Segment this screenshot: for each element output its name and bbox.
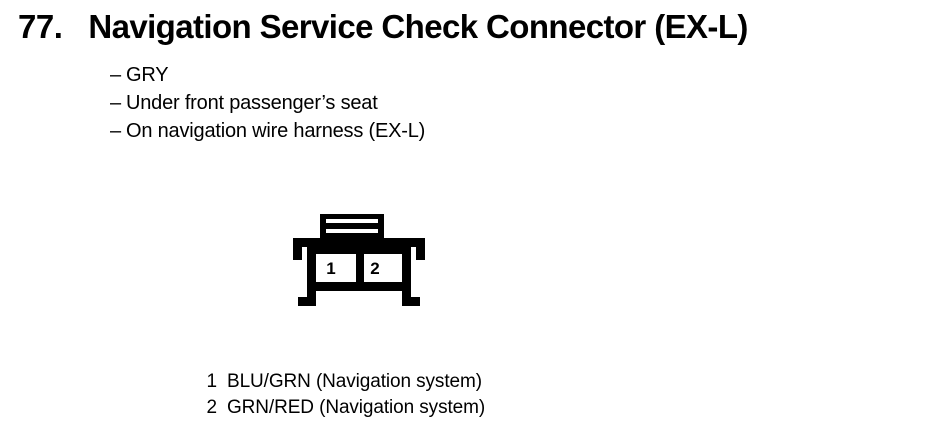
latch-slot-upper bbox=[326, 219, 378, 223]
connector-shoulder-end-right bbox=[416, 238, 425, 260]
pin-legend-description: BLU/GRN (Navigation system) bbox=[227, 369, 482, 395]
dash-bullet-icon: – bbox=[110, 61, 126, 89]
pin-legend-row: 2 GRN/RED (Navigation system) bbox=[203, 395, 485, 421]
spec-list: –GRY –Under front passenger’s seat –On n… bbox=[110, 61, 425, 145]
page-header: 77. Navigation Service Check Connector (… bbox=[18, 8, 928, 46]
connector-shoulder-end-left bbox=[293, 238, 302, 260]
dash-bullet-icon: – bbox=[110, 117, 126, 145]
connector-cavity-number-1: 1 bbox=[321, 259, 341, 279]
dash-bullet-icon: – bbox=[110, 89, 126, 117]
connector-cavity-number-2: 2 bbox=[365, 259, 385, 279]
connector-foot-right bbox=[402, 297, 420, 306]
connector-latch-tab bbox=[320, 214, 384, 240]
connector-diagram: 1 2 bbox=[293, 214, 425, 306]
pin-legend-number: 1 bbox=[203, 369, 217, 395]
spec-item-label: On navigation wire harness (EX-L) bbox=[126, 120, 425, 142]
pin-legend-description: GRN/RED (Navigation system) bbox=[227, 395, 485, 421]
spec-item-color: –GRY bbox=[110, 61, 425, 89]
pin-legend: 1 BLU/GRN (Navigation system) 2 GRN/RED … bbox=[203, 369, 485, 421]
connector-cavity-divider bbox=[356, 247, 364, 289]
connector-foot-left bbox=[298, 297, 316, 306]
latch-slot-lower bbox=[326, 229, 378, 233]
pin-legend-row: 1 BLU/GRN (Navigation system) bbox=[203, 369, 485, 395]
spec-item-label: GRY bbox=[126, 64, 168, 86]
spec-item-harness: –On navigation wire harness (EX-L) bbox=[110, 117, 425, 145]
item-number: 77. bbox=[18, 8, 62, 46]
page-title: Navigation Service Check Connector (EX-L… bbox=[88, 8, 747, 46]
spec-item-location: –Under front passenger’s seat bbox=[110, 89, 425, 117]
pin-legend-number: 2 bbox=[203, 395, 217, 421]
spec-item-label: Under front passenger’s seat bbox=[126, 92, 378, 114]
